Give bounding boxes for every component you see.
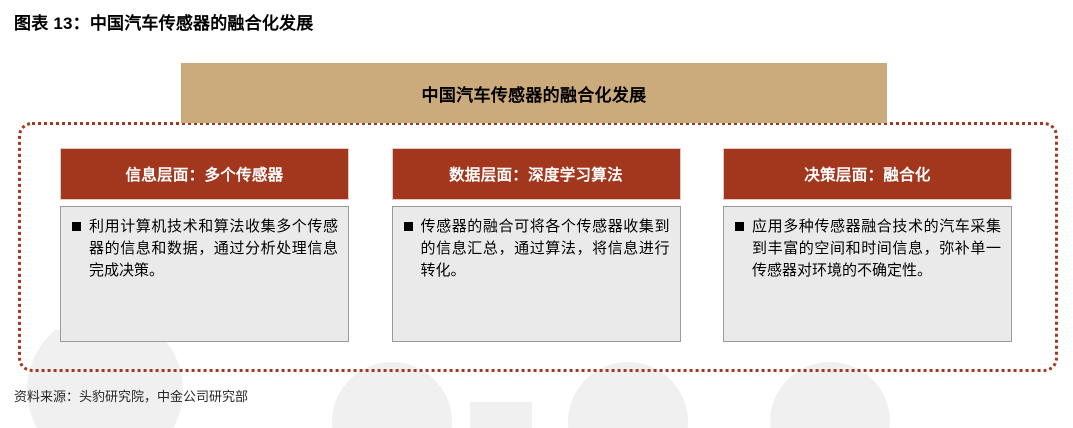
source-note: 资料来源：头豹研究院，中金公司研究部 [14,386,248,405]
column-header-decision-layer: 决策层面：融合化 [723,148,1012,200]
column-body-data-layer: 传感器的融合可将各个传感器收集到的信息汇总，通过算法，将信息进行转化。 [392,206,681,342]
column-decision-layer: 决策层面：融合化 应用多种传感器融合技术的汽车采集到丰富的空间和时间信息，弥补单… [723,148,1012,342]
banner: 中国汽车传感器的融合化发展 [181,63,887,123]
square-bullet-icon [404,222,413,231]
columns-container: 信息层面：多个传感器 利用计算机技术和算法收集多个传感器的信息和数据，通过分析处… [60,148,1012,342]
column-header-label: 决策层面：融合化 [804,163,930,185]
column-header-data-layer: 数据层面：深度学习算法 [392,148,681,200]
square-bullet-icon [72,222,81,231]
column-body-information-layer: 利用计算机技术和算法收集多个传感器的信息和数据，通过分析处理信息完成决策。 [60,206,349,342]
square-bullet-icon [735,222,744,231]
column-data-layer: 数据层面：深度学习算法 传感器的融合可将各个传感器收集到的信息汇总，通过算法，将… [392,148,681,342]
page-title: 图表 13：中国汽车传感器的融合化发展 [14,9,313,34]
column-body-text: 应用多种传感器融合技术的汽车采集到丰富的空间和时间信息，弥补单一传感器对环境的不… [752,216,1001,283]
column-body-text: 利用计算机技术和算法收集多个传感器的信息和数据，通过分析处理信息完成决策。 [89,216,338,283]
banner-label: 中国汽车传感器的融合化发展 [422,81,647,106]
column-body-decision-layer: 应用多种传感器融合技术的汽车采集到丰富的空间和时间信息，弥补单一传感器对环境的不… [723,206,1012,342]
column-body-text: 传感器的融合可将各个传感器收集到的信息汇总，通过算法，将信息进行转化。 [421,216,670,283]
column-header-label: 信息层面：多个传感器 [125,163,283,185]
column-header-label: 数据层面：深度学习算法 [449,163,623,185]
column-header-information-layer: 信息层面：多个传感器 [60,148,349,200]
column-information-layer: 信息层面：多个传感器 利用计算机技术和算法收集多个传感器的信息和数据，通过分析处… [60,148,349,342]
